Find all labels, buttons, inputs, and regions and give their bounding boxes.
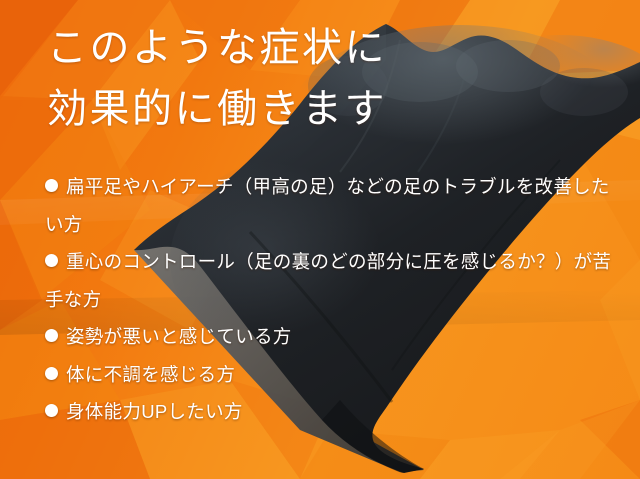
headline-line-1: このような症状に — [47, 18, 387, 79]
list-item: 体に不調を感じる方 — [45, 356, 235, 394]
list-item-label: 姿勢が悪いと感じている方 — [66, 326, 292, 347]
list-item-label: 重心のコントロール（足の裏のどの部分に圧を感じるか？）が苦手な方 — [45, 251, 611, 310]
bullet-dot-icon — [45, 254, 58, 267]
bullet-dot-icon — [45, 179, 58, 192]
bullet-dot-icon — [45, 367, 58, 380]
bullet-dot-icon — [45, 329, 58, 342]
list-item-label: 扁平足やハイアーチ（甲高の足）などの足のトラブルを改善したい方 — [45, 176, 610, 235]
list-item-label: 身体能力UPしたい方 — [66, 401, 243, 422]
list-item: 重心のコントロール（足の裏のどの部分に圧を感じるか？）が苦手な方 — [45, 243, 623, 318]
list-item-label: 体に不調を感じる方 — [66, 364, 235, 385]
page-title: このような症状に 効果的に働きます — [47, 18, 387, 140]
headline-line-2: 効果的に働きます — [47, 79, 387, 140]
list-item: 扁平足やハイアーチ（甲高の足）などの足のトラブルを改善したい方 — [45, 168, 623, 243]
text-layer: このような症状に 効果的に働きます 扁平足やハイアーチ（甲高の足）などの足のトラ… — [0, 0, 640, 479]
bullet-dot-icon — [45, 404, 58, 417]
promo-banner: このような症状に 効果的に働きます 扁平足やハイアーチ（甲高の足）などの足のトラ… — [0, 0, 640, 479]
list-item: 身体能力UPしたい方 — [45, 393, 243, 431]
list-item: 姿勢が悪いと感じている方 — [45, 318, 292, 356]
